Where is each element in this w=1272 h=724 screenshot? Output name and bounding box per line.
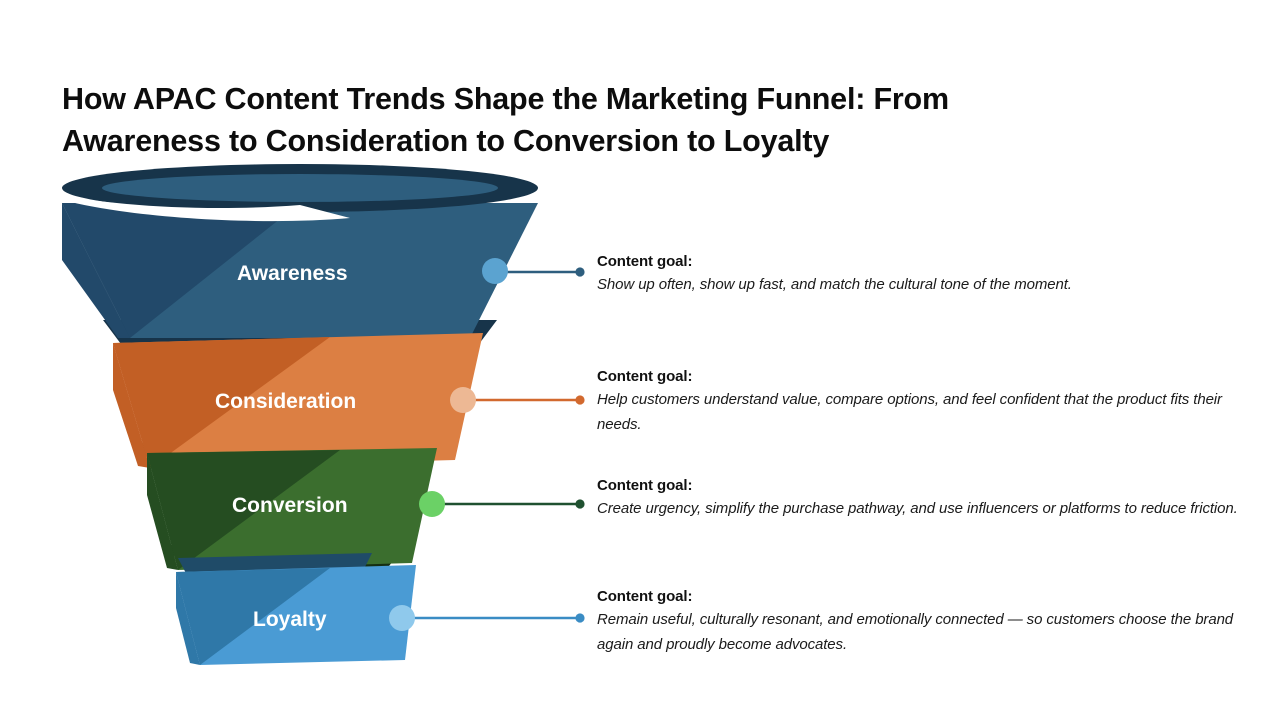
- goal-desc-awareness: Show up often, show up fast, and match t…: [597, 273, 1242, 297]
- goal-block-consideration: Content goal: Help customers understand …: [597, 365, 1242, 437]
- page-title-line-1: How APAC Content Trends Shape the Market…: [62, 78, 1122, 120]
- consideration-label: Consideration: [215, 390, 356, 413]
- funnel-stage-loyalty[interactable]: Loyalty: [176, 553, 585, 665]
- goal-title-consideration: Content goal:: [597, 365, 1242, 388]
- funnel-rim-inner: [102, 174, 498, 202]
- loyalty-connector-dot-large[interactable]: [389, 605, 415, 631]
- slide-canvas: How APAC Content Trends Shape the Market…: [0, 0, 1272, 724]
- consideration-connector-dot-small: [575, 395, 584, 404]
- page-title: How APAC Content Trends Shape the Market…: [62, 78, 1122, 162]
- goal-desc-conversion: Create urgency, simplify the purchase pa…: [597, 497, 1242, 521]
- goal-block-loyalty: Content goal: Remain useful, culturally …: [597, 585, 1242, 657]
- conversion-connector-dot-large[interactable]: [419, 491, 445, 517]
- conversion-label: Conversion: [232, 494, 348, 517]
- consideration-connector-dot-large[interactable]: [450, 387, 476, 413]
- goal-desc-loyalty: Remain useful, culturally resonant, and …: [597, 608, 1242, 657]
- goal-title-awareness: Content goal:: [597, 250, 1242, 273]
- awareness-connector-dot-small: [575, 267, 584, 276]
- goal-block-conversion: Content goal: Create urgency, simplify t…: [597, 474, 1242, 522]
- goal-desc-consideration: Help customers understand value, compare…: [597, 388, 1242, 437]
- funnel-stage-awareness[interactable]: Awareness: [62, 164, 585, 356]
- goal-title-conversion: Content goal:: [597, 474, 1242, 497]
- conversion-connector-dot-small: [575, 499, 584, 508]
- goal-block-awareness: Content goal: Show up often, show up fas…: [597, 250, 1242, 298]
- page-title-line-2: Awareness to Consideration to Conversion…: [62, 120, 1122, 162]
- loyalty-label: Loyalty: [253, 608, 327, 631]
- funnel-diagram: Awareness Consideration Conversion: [0, 160, 620, 680]
- awareness-connector-dot-large[interactable]: [482, 258, 508, 284]
- loyalty-connector-dot-small: [575, 613, 584, 622]
- awareness-label: Awareness: [237, 262, 348, 285]
- goal-title-loyalty: Content goal:: [597, 585, 1242, 608]
